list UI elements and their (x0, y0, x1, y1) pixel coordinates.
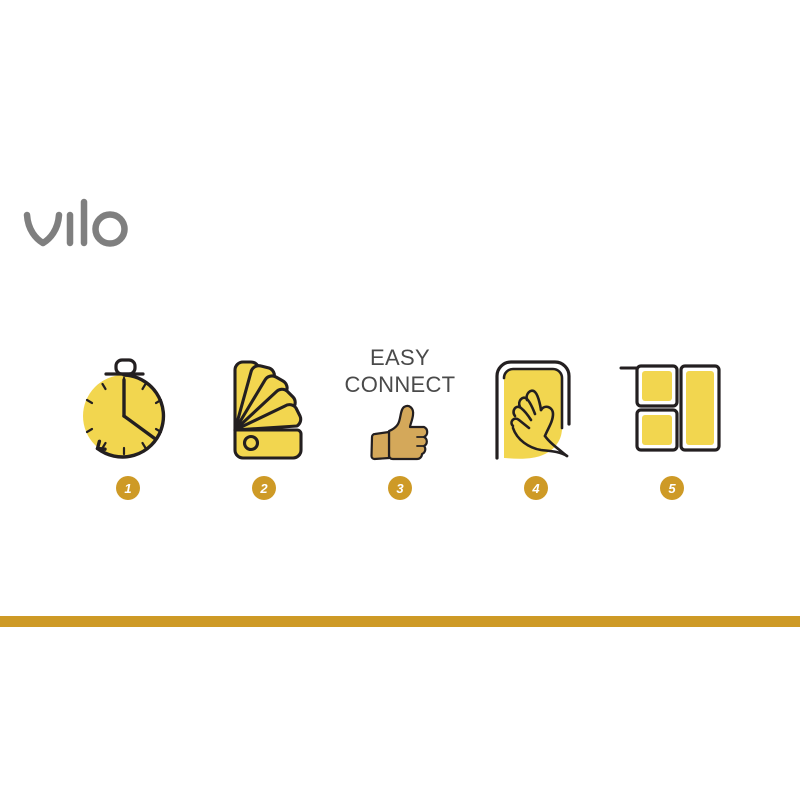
caption-line-2: CONNECT (345, 371, 456, 398)
step-item-2: 2 (196, 300, 332, 500)
step-3-art: EASY CONNECT (332, 314, 468, 464)
easy-connect-caption: EASY CONNECT (345, 344, 456, 398)
step-badge-2: 2 (252, 476, 276, 500)
step-1-art (60, 314, 196, 464)
step-badge-5: 5 (660, 476, 684, 500)
vilo-logo-mark (22, 198, 142, 254)
step-item-1: 1 (60, 300, 196, 500)
stopwatch-icon (75, 354, 181, 464)
color-swatch-fan-icon (211, 354, 317, 464)
step-badge-4: 4 (524, 476, 548, 500)
vilo-logo (22, 198, 142, 254)
thumbs-up-icon (365, 402, 435, 464)
step-badge-1: 1 (116, 476, 140, 500)
step-5-art (604, 314, 740, 464)
step-item-5: 5 (604, 300, 740, 500)
slide-canvas: 1 (0, 0, 800, 800)
caption-line-1: EASY (345, 344, 456, 371)
step-2-art (196, 314, 332, 464)
step-4-art (468, 314, 604, 464)
step-item-3: EASY CONNECT 3 (332, 300, 468, 500)
step-badge-3: 3 (388, 476, 412, 500)
step-item-4: 4 (468, 300, 604, 500)
steps-row: 1 (60, 300, 740, 500)
hand-wiping-cloth-icon (483, 354, 589, 464)
bottom-accent-bar (0, 616, 800, 627)
wall-panel-layout-icon (619, 354, 725, 464)
